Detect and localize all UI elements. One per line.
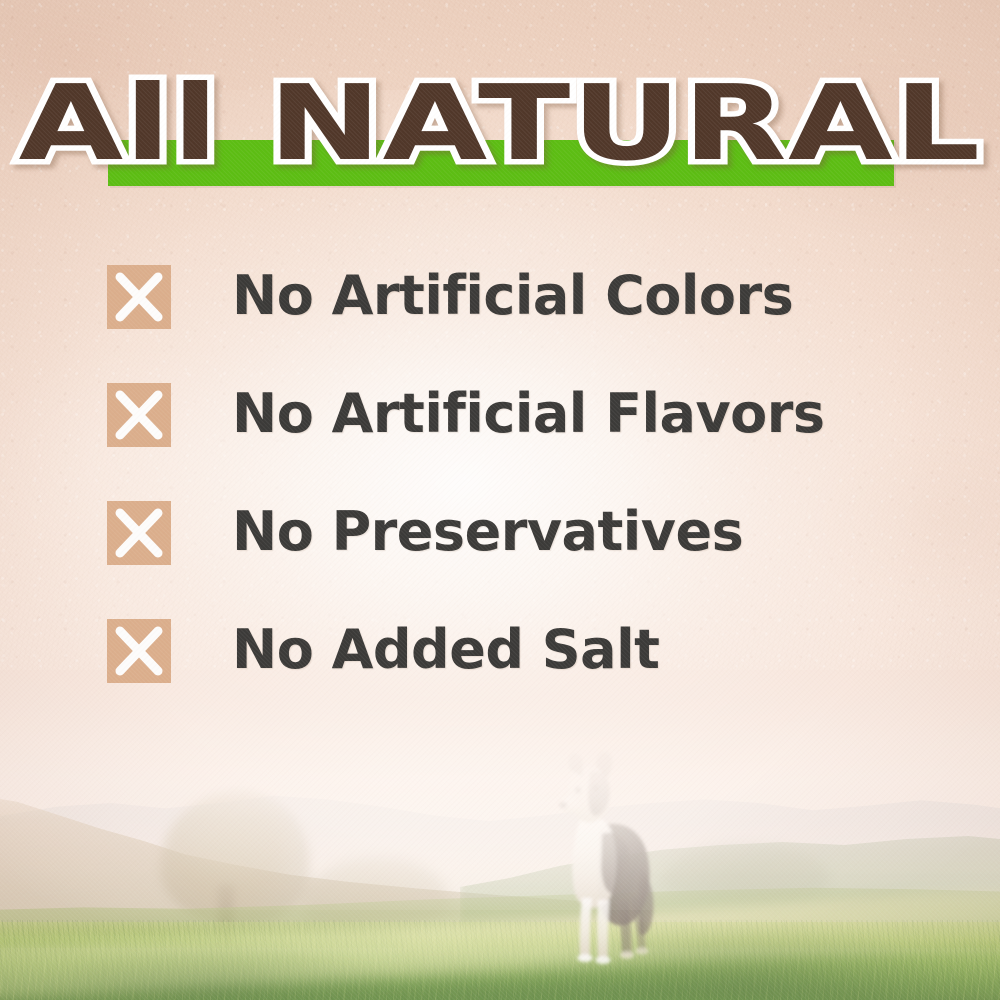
claim-label: No Added Salt: [232, 613, 659, 687]
page-title: All NATURAL: [0, 68, 1000, 178]
list-item: No Artificial Colors: [107, 265, 907, 383]
claim-label: No Preservatives: [232, 495, 743, 569]
list-item: No Artificial Flavors: [107, 383, 907, 501]
x-mark-icon: [107, 501, 171, 565]
list-item: No Added Salt: [107, 619, 907, 737]
list-item: No Preservatives: [107, 501, 907, 619]
claims-list: No Artificial Colors No Artificial Flavo…: [107, 265, 907, 737]
x-mark-icon: [107, 383, 171, 447]
product-feature-poster: All NATURAL No Artificial Colors: [0, 0, 1000, 1000]
claim-label: No Artificial Flavors: [232, 377, 825, 451]
claim-label: No Artificial Colors: [232, 259, 793, 333]
x-mark-icon: [107, 619, 171, 683]
x-mark-icon: [107, 265, 171, 329]
